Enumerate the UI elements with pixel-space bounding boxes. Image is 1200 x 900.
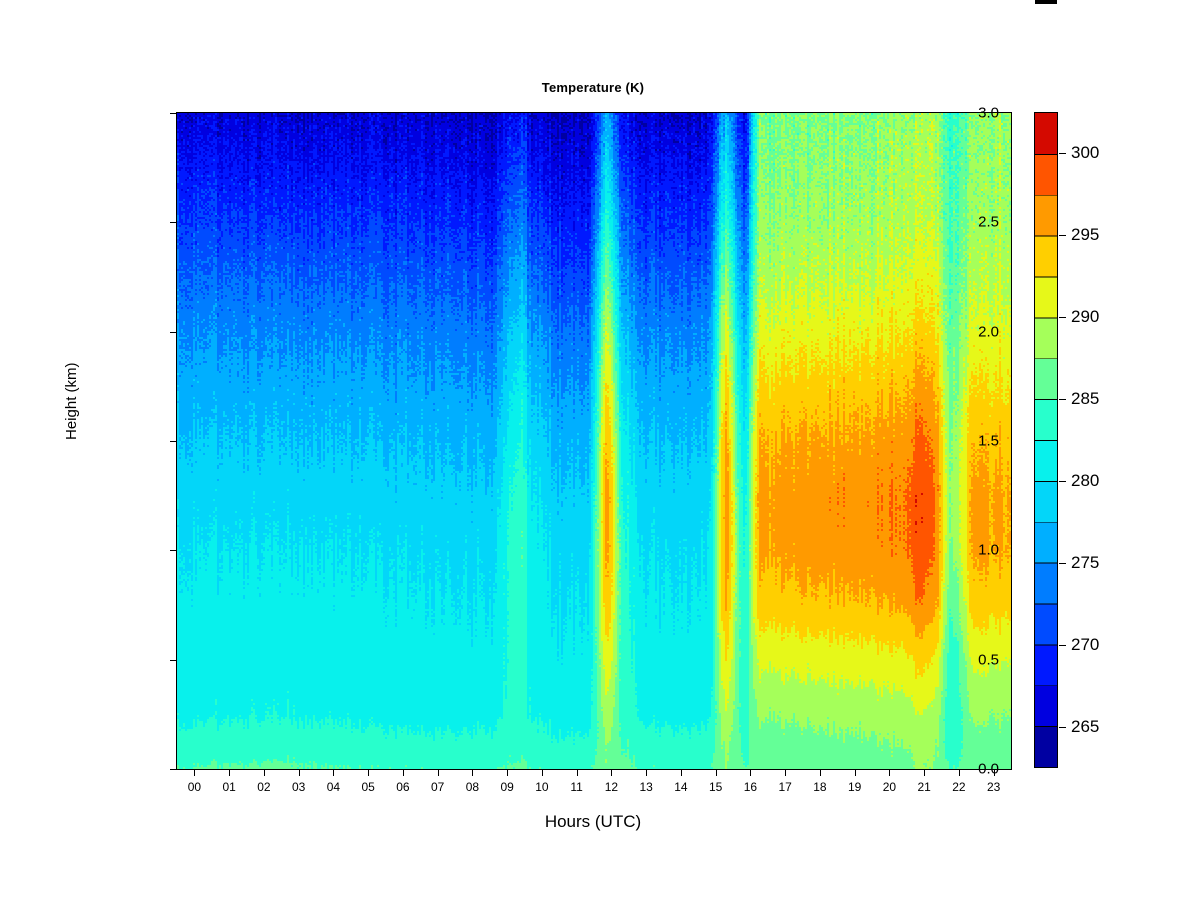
x-tick-mark (994, 770, 995, 776)
y-tick-mark (170, 660, 176, 661)
colorbar-gradient (1034, 112, 1058, 768)
x-tick-label: 08 (466, 780, 479, 794)
x-tick-label: 12 (605, 780, 618, 794)
colorbar-tick-mark (1059, 153, 1066, 154)
colorbar-tick-mark (1059, 235, 1066, 236)
x-tick-mark (855, 770, 856, 776)
colorbar-tick-mark (1059, 481, 1066, 482)
y-tick-label: 2.5 (978, 214, 999, 231)
x-tick-label: 00 (188, 780, 201, 794)
x-tick-label: 23 (987, 780, 1000, 794)
x-tick-mark (368, 770, 369, 776)
colorbar-tick-label: 280 (1071, 471, 1099, 491)
x-tick-label: 13 (639, 780, 652, 794)
colorbar-tick-label: 275 (1071, 553, 1099, 573)
x-tick-mark (924, 770, 925, 776)
x-tick-mark (577, 770, 578, 776)
heatmap-plot-panel: 0.00.51.01.52.02.53.0 000102030405060708… (176, 112, 1012, 770)
colorbar-tick-mark (1059, 399, 1066, 400)
colorbar: 265270275280285290295300 (1034, 112, 1184, 768)
x-tick-mark (264, 770, 265, 776)
x-tick-label: 09 (500, 780, 513, 794)
x-tick-mark (333, 770, 334, 776)
x-tick-mark (716, 770, 717, 776)
x-tick-label: 02 (257, 780, 270, 794)
colorbar-tick-label: 300 (1071, 143, 1099, 163)
x-tick-label: 18 (813, 780, 826, 794)
x-tick-mark (959, 770, 960, 776)
colorbar-tick-mark (1059, 563, 1066, 564)
colorbar-tick-mark (1059, 317, 1066, 318)
x-axis-title: Hours (UTC) (176, 812, 1010, 832)
temperature-heatmap (177, 113, 1011, 769)
x-tick-mark (299, 770, 300, 776)
x-tick-label: 22 (952, 780, 965, 794)
x-tick-mark (611, 770, 612, 776)
colorbar-tick-label: 270 (1071, 635, 1099, 655)
colorbar-tick-label: 285 (1071, 389, 1099, 409)
y-tick-label: 3.0 (978, 105, 999, 122)
x-tick-label: 20 (883, 780, 896, 794)
y-tick-mark (170, 550, 176, 551)
x-tick-mark (507, 770, 508, 776)
y-tick-mark (170, 332, 176, 333)
x-tick-mark (681, 770, 682, 776)
x-tick-label: 03 (292, 780, 305, 794)
x-tick-label: 04 (327, 780, 340, 794)
page-title: Temperature (K) (176, 80, 1010, 95)
y-tick-label: 0.0 (978, 761, 999, 778)
clipped-top-edge-mark (1035, 0, 1057, 4)
x-tick-mark (542, 770, 543, 776)
colorbar-tick-mark (1059, 645, 1066, 646)
y-tick-label: 2.0 (978, 323, 999, 340)
x-tick-label: 15 (709, 780, 722, 794)
x-tick-label: 17 (778, 780, 791, 794)
x-tick-label: 07 (431, 780, 444, 794)
x-tick-mark (229, 770, 230, 776)
x-tick-mark (194, 770, 195, 776)
x-tick-mark (646, 770, 647, 776)
x-tick-label: 06 (396, 780, 409, 794)
y-tick-label: 1.5 (978, 433, 999, 450)
x-tick-label: 10 (535, 780, 548, 794)
colorbar-tick-mark (1059, 727, 1066, 728)
y-axis-title: Height (km) (63, 362, 80, 440)
x-tick-label: 11 (570, 780, 582, 794)
x-tick-label: 01 (222, 780, 235, 794)
colorbar-tick-label: 295 (1071, 225, 1099, 245)
y-tick-mark (170, 222, 176, 223)
x-tick-mark (750, 770, 751, 776)
colorbar-tick-label: 290 (1071, 307, 1099, 327)
x-tick-mark (472, 770, 473, 776)
y-tick-label: 1.0 (978, 542, 999, 559)
x-tick-label: 21 (917, 780, 930, 794)
y-tick-mark (170, 769, 176, 770)
colorbar-tick-label: 265 (1071, 717, 1099, 737)
figure-root: Temperature (K) 0.00.51.01.52.02.53.0 00… (0, 0, 1200, 900)
y-tick-label: 0.5 (978, 651, 999, 668)
x-tick-mark (403, 770, 404, 776)
x-tick-mark (785, 770, 786, 776)
x-tick-mark (820, 770, 821, 776)
x-tick-label: 05 (361, 780, 374, 794)
x-tick-mark (438, 770, 439, 776)
x-tick-mark (889, 770, 890, 776)
x-tick-label: 16 (744, 780, 757, 794)
y-tick-mark (170, 113, 176, 114)
x-tick-label: 14 (674, 780, 687, 794)
x-tick-label: 19 (848, 780, 861, 794)
y-tick-mark (170, 441, 176, 442)
